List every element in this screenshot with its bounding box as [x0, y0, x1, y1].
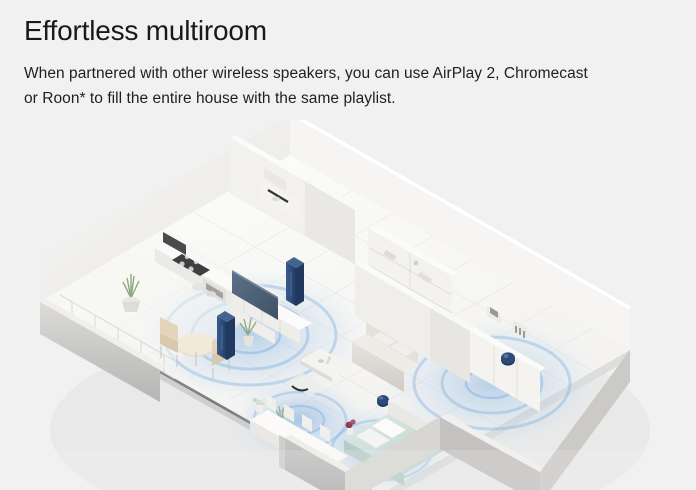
isometric-apartment-svg	[0, 120, 696, 490]
description-line-1: When partnered with other wireless speak…	[24, 65, 499, 82]
description-text: When partnered with other wireless speak…	[24, 61, 604, 111]
promo-panel: Effortless multiroom When partnered with…	[0, 0, 696, 490]
bathroom-basin	[272, 197, 280, 202]
text-block: Effortless multiroom When partnered with…	[24, 14, 644, 111]
tower-speaker-left	[286, 257, 304, 306]
kitchen-bowl-1	[192, 283, 206, 291]
tower-speaker-right	[217, 311, 235, 360]
compact-speaker-bedroom	[501, 352, 515, 365]
illustration-fade	[0, 450, 696, 490]
compact-speaker-dining	[377, 395, 389, 407]
kitchen-bowl-2	[206, 291, 216, 297]
page-title: Effortless multiroom	[24, 14, 644, 48]
apartment-illustration	[0, 120, 696, 490]
